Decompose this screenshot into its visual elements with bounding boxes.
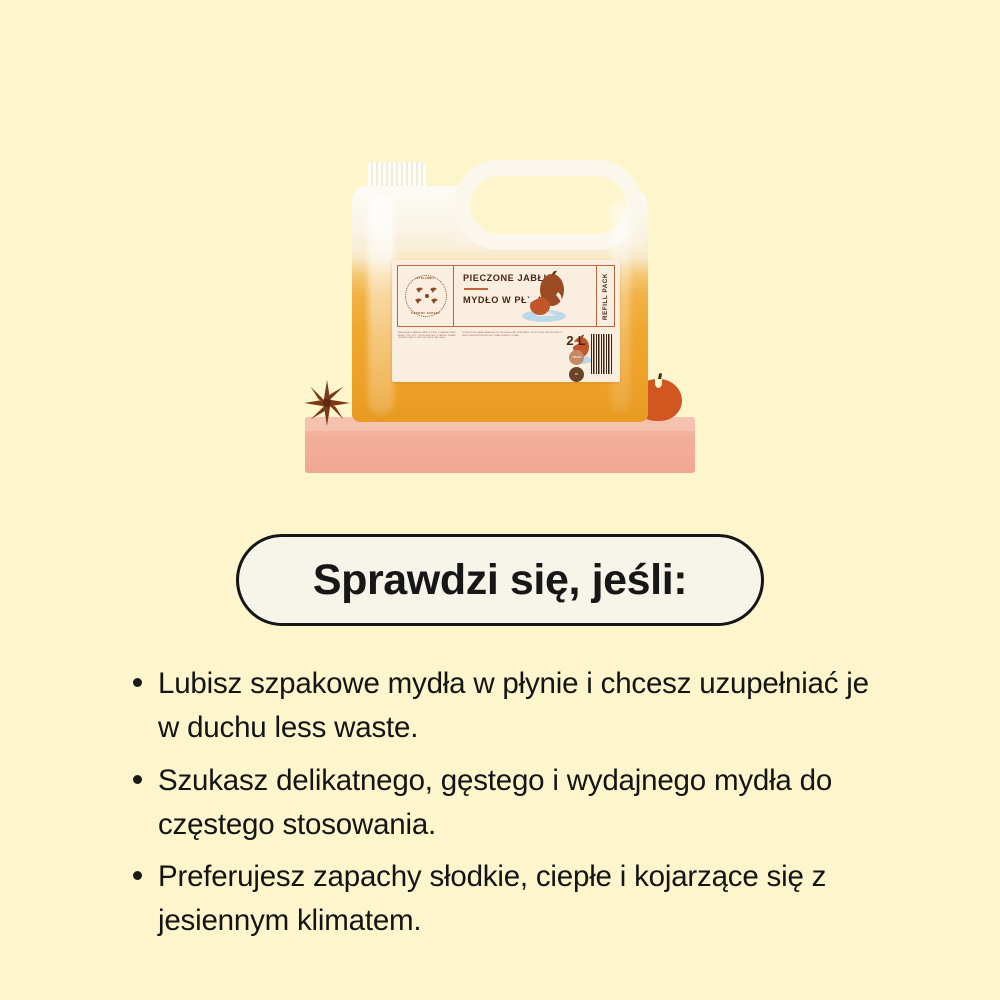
- refill-bottle: MYDLARNIA CZTERY SZPAKI: [352, 160, 648, 422]
- bullet-dot-icon: [133, 871, 142, 880]
- refill-pack-tag: REFILL PACK: [596, 266, 614, 326]
- starling-birds-icon: [406, 276, 448, 318]
- list-item-text: Lubisz szpakowe mydła w płynie i chcesz …: [158, 662, 878, 751]
- star-anise-icon: [302, 378, 352, 428]
- label-divider: [464, 288, 488, 290]
- list-item-text: Szukasz delikatnego, gęstego i wydajnego…: [158, 759, 878, 848]
- volume-label: 2 L: [566, 333, 586, 348]
- vegan-badge: VEGAN: [569, 350, 584, 365]
- cruelty-free-badge: CF: [569, 367, 584, 382]
- list-item: Lubisz szpakowe mydła w płynie i chcesz …: [133, 662, 893, 751]
- product-pedestal: [305, 417, 695, 473]
- product-info-card: MYDLARNIA CZTERY SZPAKI: [0, 0, 1000, 1000]
- refill-pack-label: REFILL PACK: [602, 273, 609, 320]
- label-illustration: [518, 270, 574, 324]
- label-info-row: SKŁAD: AQUA, POTASSIUM OLEATE, GLYCERIN,…: [398, 332, 614, 379]
- benefits-list: Lubisz szpakowe mydła w płynie i chcesz …: [133, 662, 893, 952]
- hero-product-image: MYDLARNIA CZTERY SZPAKI: [0, 0, 1000, 500]
- list-item-text: Preferujesz zapachy słodkie, ciepłe i ko…: [158, 855, 878, 944]
- list-item: Preferujesz zapachy słodkie, ciepłe i ko…: [133, 855, 893, 944]
- label-header-row: MYDLARNIA CZTERY SZPAKI: [397, 265, 615, 327]
- page-title: Sprawdzi się, jeśli:: [313, 559, 687, 602]
- section-heading-pill: Sprawdzi się, jeśli:: [236, 534, 764, 626]
- list-item: Szukasz delikatnego, gęstego i wydajnego…: [133, 759, 893, 848]
- product-label: MYDLARNIA CZTERY SZPAKI: [392, 260, 620, 382]
- bullet-dot-icon: [133, 678, 142, 687]
- bullet-dot-icon: [133, 775, 142, 784]
- brand-logo: MYDLARNIA CZTERY SZPAKI: [398, 266, 454, 326]
- bottle-handle: [470, 176, 626, 234]
- barcode-icon: [591, 334, 612, 374]
- label-fineprint-left: SKŁAD: AQUA, POTASSIUM OLEATE, GLYCERIN,…: [398, 332, 456, 340]
- brand-logo-circle: MYDLARNIA CZTERY SZPAKI: [405, 275, 447, 317]
- label-fineprint-right: SPOSÓB UŻYCIA: NANIEŚ NIEWIELKĄ ILOŚĆ MY…: [462, 332, 562, 337]
- bottle-highlight-left: [368, 194, 394, 414]
